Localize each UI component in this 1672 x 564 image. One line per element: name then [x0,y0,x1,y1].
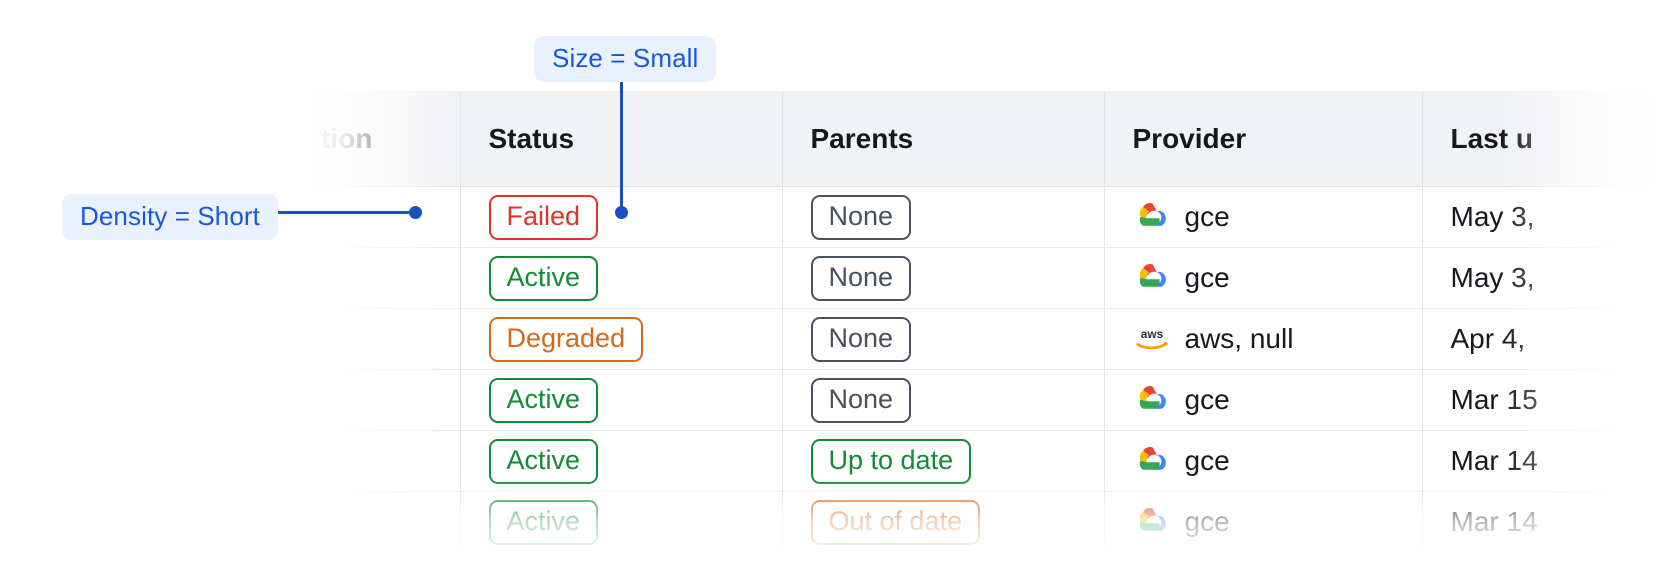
cell-provider: gce [1104,370,1422,431]
gcp-icon [1133,384,1171,416]
parents-badge: None [811,317,912,362]
cell-description [293,431,460,492]
cell-parents: Up to date [782,431,1104,492]
cell-description [293,248,460,309]
parents-badge: None [811,378,912,423]
provider-name: gce [1185,506,1230,538]
status-badge: Degraded [489,317,644,362]
provider-name: gce [1185,201,1230,233]
aws-icon: aws [1133,323,1171,355]
data-table-container[interactable]: tion Status Parents Provider Last u Fail… [293,91,1672,564]
cell-parents: Out of date [782,492,1104,553]
parents-badge: Up to date [811,439,972,484]
annotation-density: Density = Short [62,194,278,240]
column-header-parents[interactable]: Parents [782,91,1104,187]
cell-status: Active [460,248,782,309]
table-header-row: tion Status Parents Provider Last u [293,91,1672,187]
table-row[interactable]: FailedNonegceMay 3, [293,187,1672,248]
cell-parents: None [782,187,1104,248]
cell-provider: gce [1104,431,1422,492]
provider-name: gce [1185,262,1230,294]
svg-text:aws: aws [1140,327,1163,341]
annotation-size: Size = Small [534,36,716,82]
column-header-provider[interactable]: Provider [1104,91,1422,187]
cell-provider: awsaws, null [1104,309,1422,370]
parents-badge: Out of date [811,500,981,545]
status-badge: Active [489,256,599,301]
cell-description [293,187,460,248]
cell-description [293,492,460,553]
status-badge: Active [489,500,599,545]
status-badge: Failed [489,195,599,240]
table-header: tion Status Parents Provider Last u [293,91,1672,187]
cell-last-updated: Mar 15 [1422,370,1672,431]
cell-status: Degraded [460,309,782,370]
size-leader-line [620,75,623,212]
cell-description [293,309,460,370]
table-row[interactable]: ActiveNonegceMay 3, [293,248,1672,309]
cell-parents: None [782,248,1104,309]
cell-provider: gce [1104,492,1422,553]
table-row[interactable]: ActiveNonegceMar 15 [293,370,1672,431]
parents-badge: None [811,256,912,301]
cell-description [293,370,460,431]
table-body: FailedNonegceMay 3,ActiveNonegceMay 3,De… [293,187,1672,553]
cell-last-updated: Apr 4, [1422,309,1672,370]
density-leader-line [273,211,416,214]
cell-last-updated: Mar 14 [1422,431,1672,492]
provider-name: gce [1185,445,1230,477]
cell-last-updated: Mar 14 [1422,492,1672,553]
cell-status: Active [460,431,782,492]
gcp-icon [1133,262,1171,294]
size-leader-dot [615,206,628,219]
cell-last-updated: May 3, [1422,248,1672,309]
status-badge: Active [489,378,599,423]
table-row[interactable]: DegradedNoneawsaws, nullApr 4, [293,309,1672,370]
cell-parents: None [782,370,1104,431]
cell-last-updated: May 3, [1422,187,1672,248]
provider-name: aws, null [1185,323,1294,355]
cell-parents: None [782,309,1104,370]
cell-provider: gce [1104,187,1422,248]
cell-status: Active [460,492,782,553]
table-row[interactable]: ActiveOut of dategceMar 14 [293,492,1672,553]
table-row[interactable]: ActiveUp to dategceMar 14 [293,431,1672,492]
gcp-icon [1133,201,1171,233]
gcp-icon [1133,445,1171,477]
status-badge: Active [489,439,599,484]
column-header-description[interactable]: tion [293,91,460,187]
density-leader-dot [409,206,422,219]
cell-status: Active [460,370,782,431]
cell-provider: gce [1104,248,1422,309]
column-header-last-updated[interactable]: Last u [1422,91,1672,187]
provider-name: gce [1185,384,1230,416]
parents-badge: None [811,195,912,240]
resources-table: tion Status Parents Provider Last u Fail… [293,91,1672,553]
gcp-icon [1133,506,1171,538]
